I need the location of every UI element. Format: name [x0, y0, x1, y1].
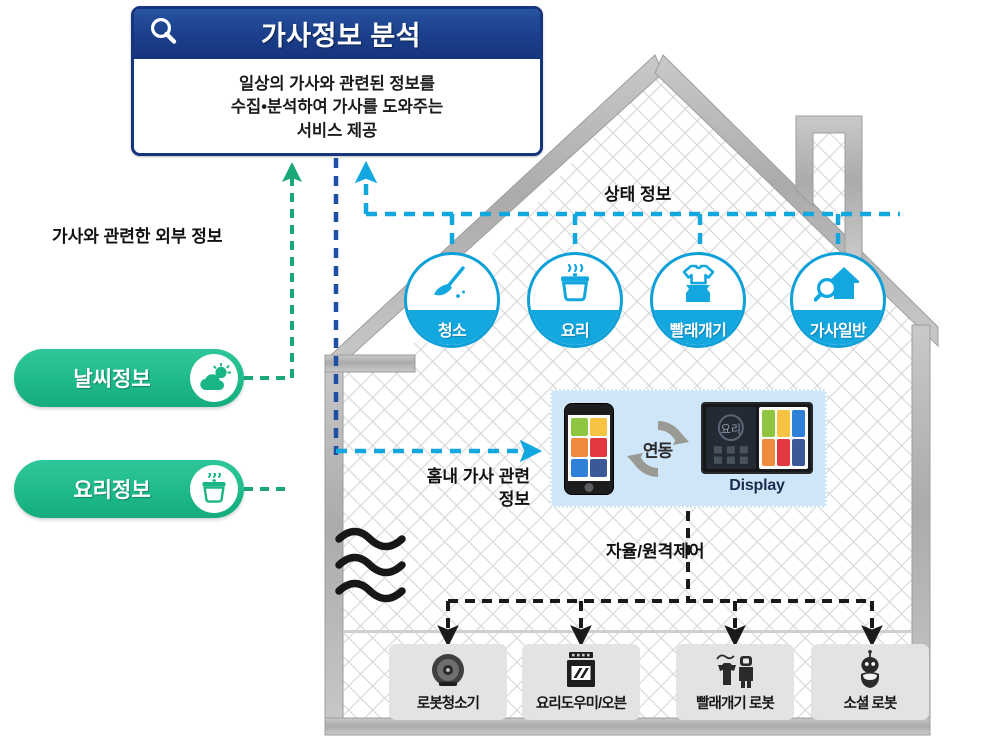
oven-icon	[562, 650, 600, 690]
social-robot-icon	[852, 650, 888, 690]
external-source-cooking-label: 요리정보	[14, 474, 190, 504]
header-desc-line-2: 수집•분석하여 가사를 도와주는	[231, 96, 443, 119]
cooking-pot-icon	[190, 465, 238, 513]
steaming-pot-icon	[530, 255, 620, 310]
device-folding-robot-label: 빨래개기 로봇	[696, 692, 774, 713]
search-magnifier-icon	[146, 14, 180, 53]
sync-arrows-icon: 연동	[622, 413, 694, 485]
header-desc-line-3: 서비스 제공	[297, 120, 377, 143]
flow-external-info	[244, 172, 292, 489]
robot-vacuum-icon	[428, 650, 468, 690]
label-external-info: 가사와 관련한 외부 정보	[52, 222, 223, 247]
folded-shirt-icon	[653, 255, 743, 310]
svg-text:요리: 요리	[721, 423, 741, 436]
external-source-weather-label: 날씨정보	[14, 363, 190, 393]
tv-display-icon: 요리	[701, 402, 813, 474]
device-robot-vacuum-label: 로봇청소기	[417, 692, 479, 713]
house-magnifier-icon	[793, 255, 883, 310]
device-oven[interactable]: 요리도우미/오븐	[522, 644, 640, 720]
sync-label: 연동	[622, 436, 694, 461]
header-bar: 가사정보 분석	[134, 9, 540, 59]
smartphone-icon[interactable]	[564, 403, 614, 495]
cloud-sun-weather-icon	[190, 354, 238, 402]
broom-icon	[407, 255, 497, 310]
display-label: Display	[701, 477, 813, 495]
device-folding-robot[interactable]: 빨래개기 로봇	[676, 644, 794, 720]
device-social-robot-label: 소셜 로봇	[844, 692, 897, 713]
external-source-weather[interactable]: 날씨정보	[14, 349, 244, 407]
laundry-folding-robot-icon	[712, 650, 758, 690]
display-device[interactable]: 요리 Display	[701, 402, 813, 495]
category-general-housework[interactable]: 가사일반	[790, 252, 886, 348]
page-title: 가사정보 분석	[180, 14, 528, 53]
category-cleaning[interactable]: 청소	[404, 252, 500, 348]
label-home-housework-info: 홈내 가사 관련 정보	[390, 466, 530, 512]
device-robot-vacuum[interactable]: 로봇청소기	[389, 644, 507, 720]
header-desc-line-1: 일상의 가사와 관련된 정보를	[239, 73, 435, 96]
category-laundry-folding[interactable]: 빨래개기	[650, 252, 746, 348]
device-oven-label: 요리도우미/오븐	[536, 692, 626, 713]
device-social-robot[interactable]: 소셜 로봇	[811, 644, 929, 720]
label-autonomous-remote-control: 자율/원격제어	[606, 537, 705, 562]
diagram-canvas: 가사정보 분석 일상의 가사와 관련된 정보를 수집•분석하여 가사를 도와주는…	[0, 0, 1000, 748]
analysis-header-panel: 가사정보 분석 일상의 가사와 관련된 정보를 수집•분석하여 가사를 도와주는…	[131, 6, 543, 156]
external-source-cooking[interactable]: 요리정보	[14, 460, 244, 518]
device-sync-panel: 연동 요리	[550, 389, 827, 508]
header-description: 일상의 가사와 관련된 정보를 수집•분석하여 가사를 도와주는 서비스 제공	[134, 59, 540, 156]
label-status-info: 상태 정보	[604, 180, 671, 205]
category-cooking[interactable]: 요리	[527, 252, 623, 348]
